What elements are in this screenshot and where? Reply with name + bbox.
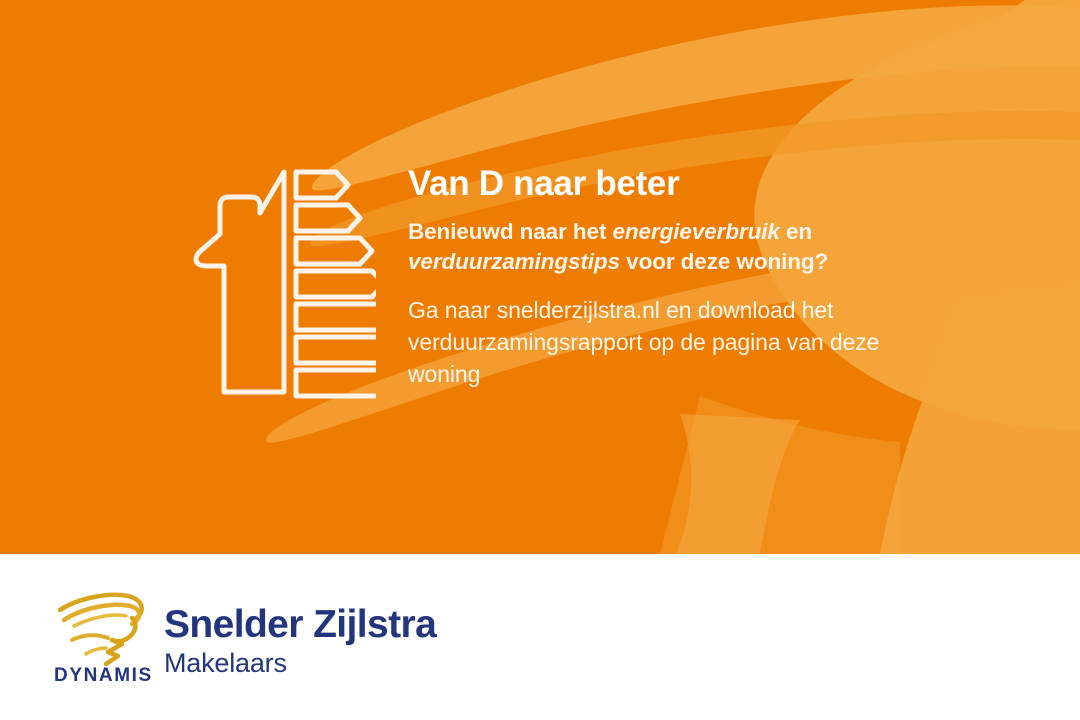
energy-arrow-4 — [296, 271, 376, 297]
energy-arrow-2 — [296, 205, 360, 231]
energy-arrow-3 — [296, 238, 372, 264]
energy-arrow-6 — [296, 337, 376, 363]
subheading-part-3: voor deze woning? — [620, 249, 828, 274]
logo-bar: DYNAMIS Snelder Zijlstra Makelaars — [0, 554, 1080, 720]
dynamis-swirl-icon — [52, 590, 156, 670]
energy-arrow-5 — [296, 304, 376, 330]
subheading-emphasis-verduurzamingstips: verduurzamingstips — [408, 249, 620, 274]
subheading: Benieuwd naar het energieverbruik en ver… — [408, 217, 888, 277]
energy-label-banner: Van D naar beter Benieuwd naar het energ… — [0, 0, 1080, 720]
headline: Van D naar beter — [408, 163, 968, 205]
brand-logo: DYNAMIS Snelder Zijlstra Makelaars — [52, 590, 436, 686]
hero-panel: Van D naar beter Benieuwd naar het energ… — [0, 0, 1080, 554]
energy-arrow-7 — [296, 370, 376, 396]
brand-name: Snelder Zijlstra — [164, 602, 436, 647]
copy-block: Van D naar beter Benieuwd naar het energ… — [408, 163, 968, 390]
logo-wordmark: Snelder Zijlstra Makelaars — [164, 590, 436, 679]
subheading-part-1: Benieuwd naar het — [408, 219, 613, 244]
body-text: Ga naar snelderzijlstra.nl en download h… — [408, 294, 928, 390]
logo-mark: DYNAMIS — [52, 590, 156, 686]
dynamis-wordmark: DYNAMIS — [54, 666, 153, 686]
subheading-emphasis-energieverbruik: energieverbruik — [613, 219, 780, 244]
brand-tagline: Makelaars — [164, 647, 436, 679]
subheading-part-2: en — [780, 219, 812, 244]
house-energy-label-icon — [96, 160, 376, 400]
energy-arrow-1 — [296, 172, 348, 198]
